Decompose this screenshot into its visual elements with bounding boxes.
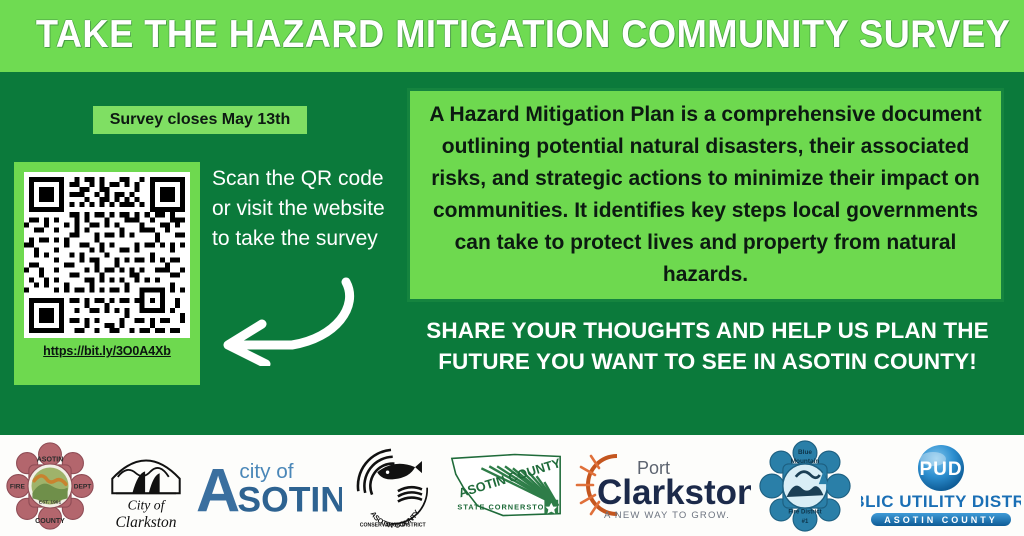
asotin-county-state-cornerstone-logo: ASOTIN COUNTY STATE CORNERSTONE xyxy=(438,435,573,536)
svg-text:Clarkston: Clarkston xyxy=(115,514,176,531)
svg-text:EST. 1901: EST. 1901 xyxy=(39,499,62,505)
svg-text:STATE CORNERSTONE: STATE CORNERSTONE xyxy=(457,502,556,511)
svg-text:SOTIN: SOTIN xyxy=(237,479,342,519)
svg-text:A: A xyxy=(196,456,240,521)
city-of-asotin-logo: A city of SOTIN xyxy=(192,435,344,536)
hazard-mitigation-description-box: A Hazard Mitigation Plan is a comprehens… xyxy=(407,88,1004,302)
svg-text:CONSERVATION DISTRICT: CONSERVATION DISTRICT xyxy=(360,522,427,528)
svg-text:ASOTIN: ASOTIN xyxy=(37,456,64,463)
qr-code-panel[interactable]: https://bit.ly/3O0A4Xb xyxy=(14,162,200,385)
svg-text:ASOTIN COUNTY: ASOTIN COUNTY xyxy=(884,515,998,525)
flyer-canvas: TAKE THE HAZARD MITIGATION COMMUNITY SUR… xyxy=(0,0,1024,536)
svg-text:A NEW WAY TO GROW.: A NEW WAY TO GROW. xyxy=(604,510,730,521)
survey-url-link[interactable]: https://bit.ly/3O0A4Xb xyxy=(43,344,171,358)
header-band: TAKE THE HAZARD MITIGATION COMMUNITY SUR… xyxy=(0,0,1024,72)
partner-logo-bar: ASOTIN COUNTY FIRE DEPT EST. 1901 City o… xyxy=(0,435,1024,536)
qr-code-image[interactable] xyxy=(24,172,190,338)
svg-text:PUD: PUD xyxy=(919,459,962,480)
call-to-action-text: SHARE YOUR THOUGHTS AND HELP US PLAN THE… xyxy=(420,315,995,377)
survey-close-date-banner: Survey closes May 13th xyxy=(93,106,307,134)
svg-text:COUNTY: COUNTY xyxy=(35,517,65,524)
curved-arrow-left-icon xyxy=(196,276,376,366)
svg-text:FIRE: FIRE xyxy=(10,483,26,490)
page-title: TAKE THE HAZARD MITIGATION COMMUNITY SUR… xyxy=(36,11,988,59)
hazard-mitigation-description-text: A Hazard Mitigation Plan is a comprehens… xyxy=(410,99,1001,291)
port-of-clarkston-logo: Port Clarkston A NEW WAY TO GROW. xyxy=(573,435,753,536)
survey-close-date-text: Survey closes May 13th xyxy=(110,111,291,129)
svg-text:Blue: Blue xyxy=(798,448,812,455)
svg-text:#1: #1 xyxy=(802,518,809,524)
asotin-county-fire-department-logo: ASOTIN COUNTY FIRE DEPT EST. 1901 xyxy=(0,435,100,536)
svg-text:DEPT: DEPT xyxy=(74,483,92,490)
blue-mountain-fire-district-1-logo: Blue Mountain Fire District #1 xyxy=(753,435,857,536)
svg-text:PUBLIC UTILITY DISTRICT: PUBLIC UTILITY DISTRICT xyxy=(861,492,1021,511)
city-of-clarkston-logo: City of Clarkston xyxy=(100,435,192,536)
svg-text:Fire District: Fire District xyxy=(788,509,821,515)
scan-instruction-text: Scan the QR code or visit the website to… xyxy=(212,164,392,254)
asotin-county-conservation-district-logo: ASOTIN COUNTY CONSERVATION DISTRICT xyxy=(344,435,438,536)
svg-text:City of: City of xyxy=(128,497,167,512)
svg-text:Mountain: Mountain xyxy=(791,458,820,465)
svg-text:Clarkston: Clarkston xyxy=(597,473,751,512)
asotin-county-pud-logo: PUD PUBLIC UTILITY DISTRICT ASOTIN COUNT… xyxy=(857,435,1024,536)
